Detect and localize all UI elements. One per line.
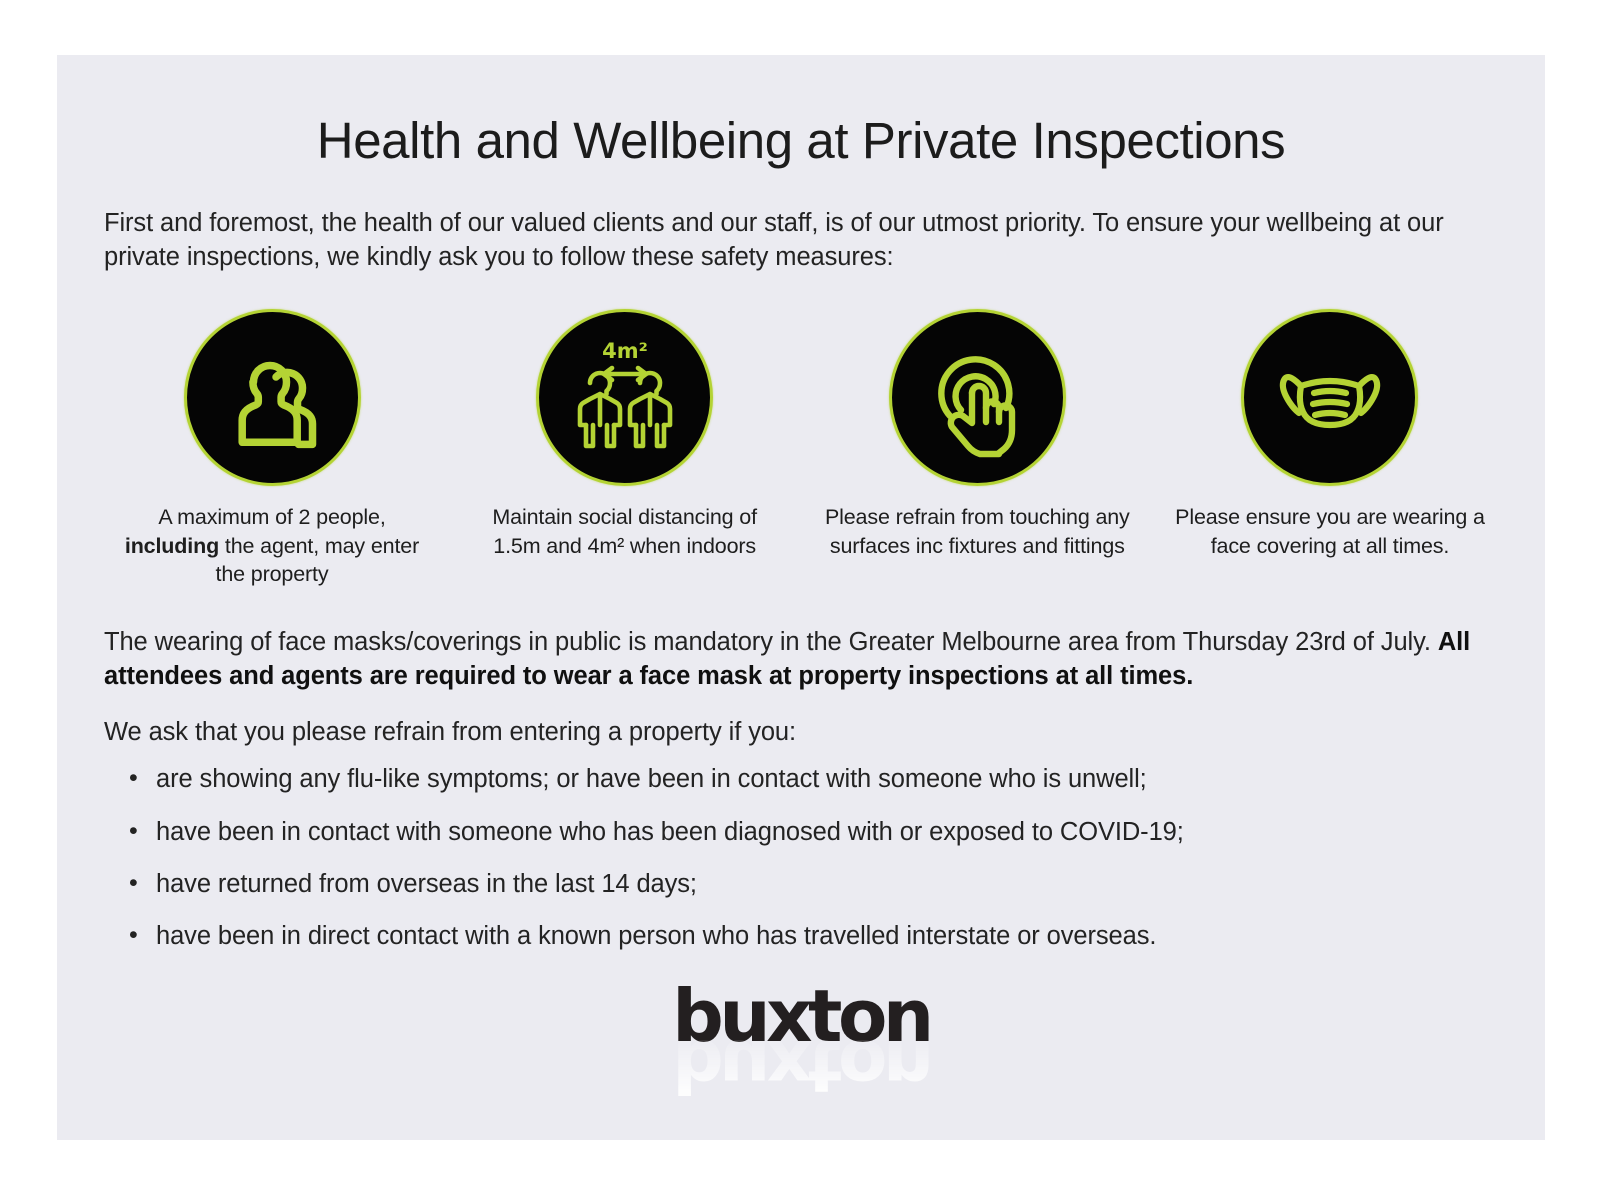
measure-caption: A maximum of 2 people, including the age… [117,486,427,589]
caption-text-1: A maximum of 2 people, [158,505,385,529]
safety-measures-row: A maximum of 2 people, including the age… [57,275,1545,589]
measure-item-max-people: A maximum of 2 people, including the age… [117,309,427,589]
measure-caption: Please refrain from touching any surface… [822,486,1132,560]
list-item: have returned from overseas in the last … [156,868,1498,901]
measure-item-no-touching: Please refrain from touching any surface… [822,309,1132,589]
face-mask-icon [1241,309,1418,486]
caption-text-1: Please ensure you are wearing a face cov… [1175,505,1485,558]
intro-paragraph: First and foremost, the health of our va… [57,169,1545,275]
caption-text-1: Please refrain from touching any surface… [825,505,1130,558]
list-item: have been in contact with someone who ha… [156,816,1498,849]
caption-text-2: the agent, may enter the property [216,534,420,587]
social-distancing-icon: 4m² [536,309,713,486]
touch-finger-icon [889,309,1066,486]
mask-notice-plain: The wearing of face masks/coverings in p… [104,628,1438,656]
lower-body: The wearing of face masks/coverings in p… [57,589,1545,953]
distance-label: 4m² [602,339,648,363]
page-title: Health and Wellbeing at Private Inspecti… [57,55,1545,169]
measure-caption: Please ensure you are wearing a face cov… [1175,486,1485,560]
list-item: are showing any flu-like symptoms; or ha… [156,763,1498,796]
refrain-list: are showing any flu-like symptoms; or ha… [104,763,1498,953]
measure-item-face-covering: Please ensure you are wearing a face cov… [1175,309,1485,589]
list-item: have been in direct contact with a known… [156,920,1498,953]
refrain-lead: We ask that you please refrain from ente… [104,716,1498,750]
mask-notice: The wearing of face masks/coverings in p… [104,626,1498,694]
measure-caption: Maintain social distancing of 1.5m and 4… [470,486,780,560]
poster-panel: Health and Wellbeing at Private Inspecti… [57,55,1545,1140]
caption-bold: including [125,534,219,558]
measure-item-social-distancing: 4m² [470,309,780,589]
logo-reflection: buxton [672,1030,929,1102]
brand-logo: buxton buxton [57,972,1545,1140]
two-people-icon [184,309,361,486]
caption-text-1: Maintain social distancing of 1.5m and 4… [492,505,757,558]
